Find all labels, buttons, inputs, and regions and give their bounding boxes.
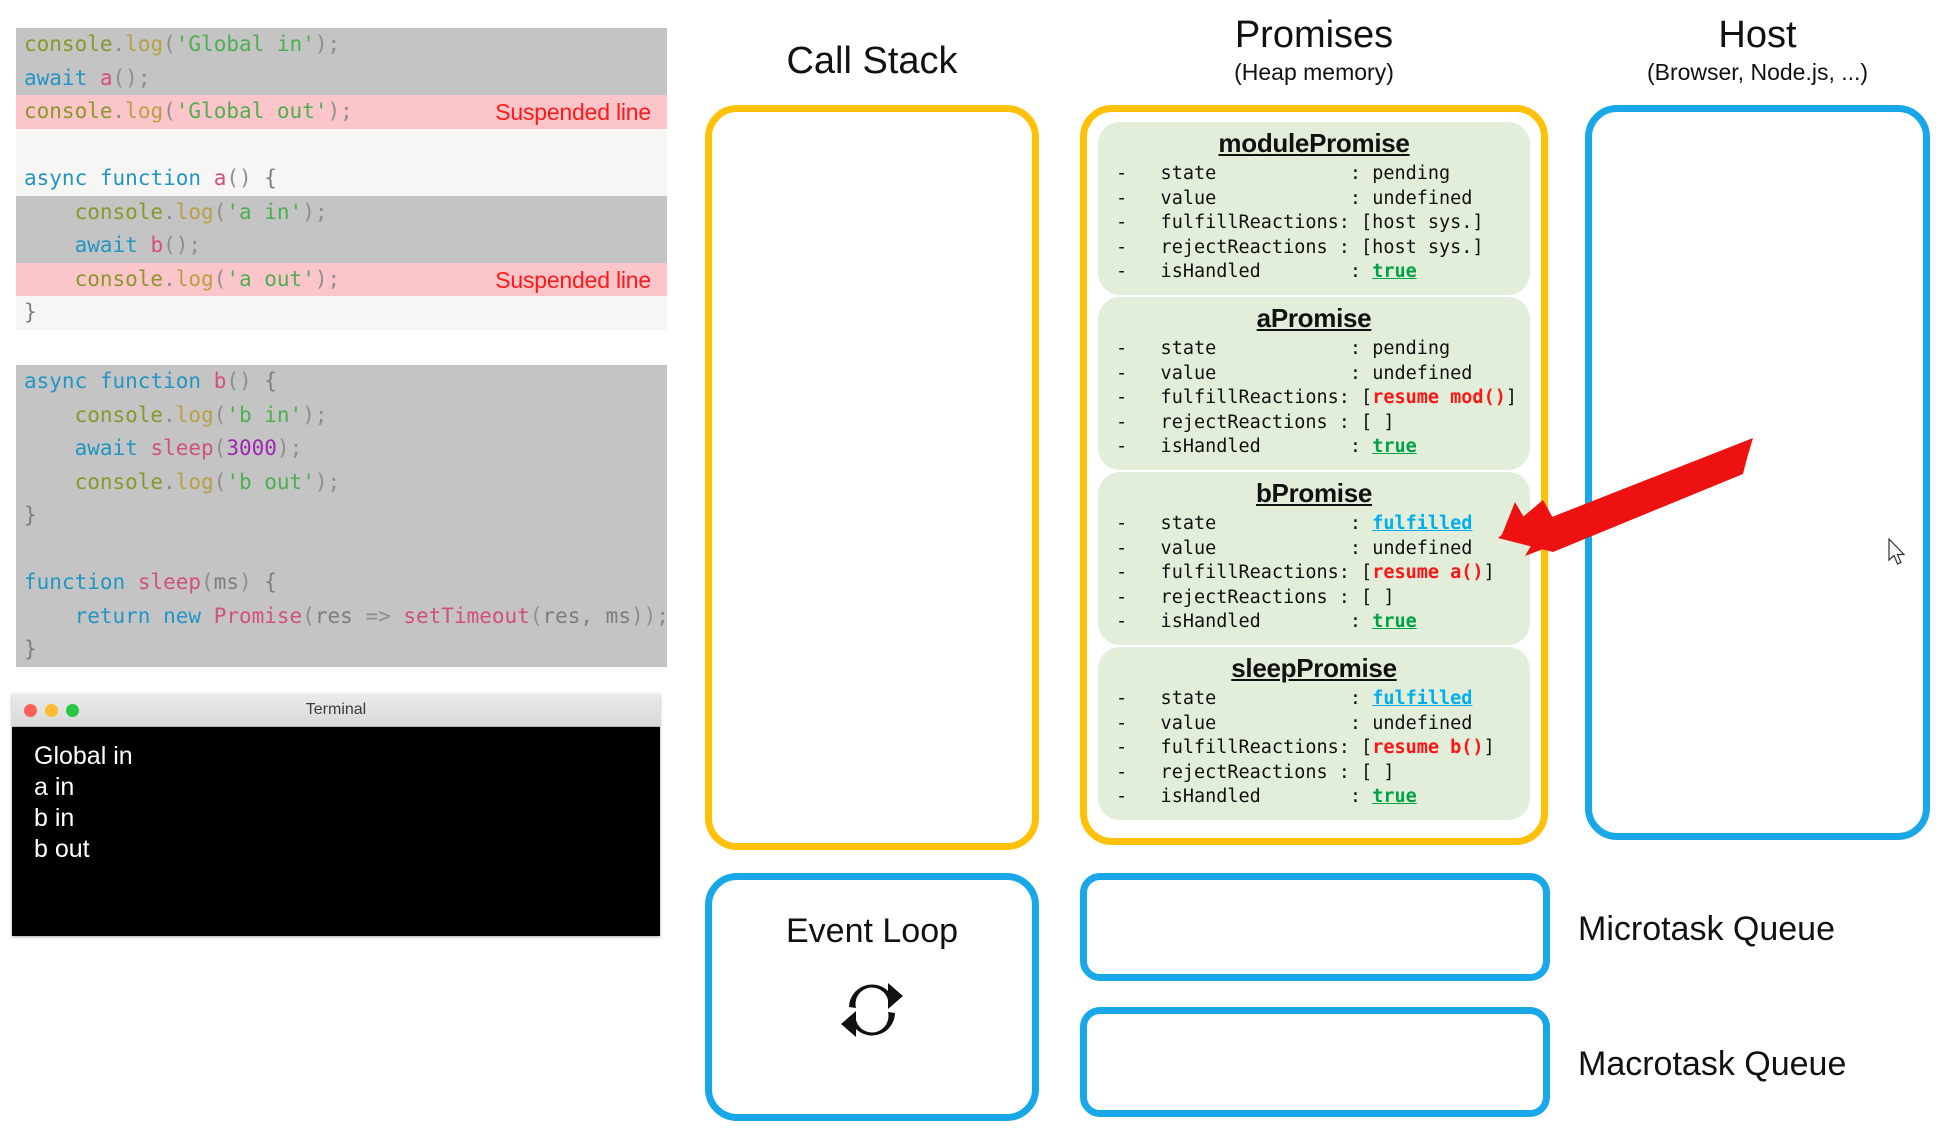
code-token: ; — [315, 200, 328, 224]
code-token: . — [163, 267, 176, 291]
code-line: await sleep(3000); — [16, 432, 667, 466]
promise-field-value: undefined — [1372, 538, 1472, 559]
promise-field-row: - rejectReactions : [host sys.] — [1116, 236, 1530, 261]
promise-field-value: fulfilled — [1372, 513, 1472, 534]
code-line — [16, 533, 667, 567]
code-token: ms — [214, 570, 239, 594]
code-token: ( — [214, 200, 227, 224]
promise-field-value: resume b() — [1372, 737, 1483, 758]
code-token: . — [163, 200, 176, 224]
code-token: ( — [530, 604, 543, 628]
code-token: . — [163, 470, 176, 494]
code-token: => — [353, 604, 404, 628]
code-token: ; — [328, 470, 341, 494]
promise-field-value: undefined — [1372, 713, 1472, 734]
promise-field-row: - state : pending — [1116, 162, 1530, 187]
event-loop-panel: Event Loop — [705, 873, 1039, 1121]
code-token: ) — [315, 32, 328, 56]
code-token: ( — [214, 470, 227, 494]
code-token — [24, 403, 75, 427]
code-token: 'b out' — [226, 470, 315, 494]
code-line: console.log('b out'); — [16, 466, 667, 500]
code-token: ; — [315, 403, 328, 427]
promise-field-key: - isHandled : — [1116, 261, 1372, 282]
code-token: Promise — [214, 604, 303, 628]
code-token: } — [24, 637, 37, 661]
code-token: log — [176, 200, 214, 224]
bracket-close: ] — [1506, 387, 1517, 408]
code-token: ) — [239, 570, 252, 594]
code-token: . — [113, 32, 126, 56]
code-token: ) — [315, 470, 328, 494]
promise-field-key: - rejectReactions : — [1116, 587, 1361, 608]
code-token: log — [176, 403, 214, 427]
suspended-line-label: Suspended line — [495, 96, 651, 130]
promise-field-row: - state : fulfilled — [1116, 512, 1530, 537]
promise-field-row: - value : undefined — [1116, 537, 1530, 562]
code-line: function sleep(ms) { — [16, 566, 667, 600]
promise-field-key: - fulfillReactions: — [1116, 387, 1361, 408]
code-token: 'b in' — [226, 403, 302, 427]
promises-heading: Promises (Heap memory) — [1080, 12, 1548, 86]
code-token: . — [113, 99, 126, 123]
bracket-open: [ — [1361, 562, 1372, 583]
code-token: new — [163, 604, 201, 628]
code-token: await — [24, 66, 87, 90]
promise-field-value: [ ] — [1361, 762, 1394, 783]
code-token: console — [75, 267, 164, 291]
promise-field-key: - value : — [1116, 363, 1372, 384]
terminal-output: Global ina inb inb out — [12, 727, 660, 865]
promise-card-fields: - state : pending- value : undefined- fu… — [1098, 162, 1530, 285]
code-token: )) — [631, 604, 656, 628]
code-token: ( — [302, 604, 315, 628]
code-token: ) — [315, 267, 328, 291]
code-token: async — [24, 369, 87, 393]
code-token — [24, 436, 75, 460]
call-stack-title: Call Stack — [705, 38, 1039, 84]
code-token: function — [100, 369, 201, 393]
promise-field-value: undefined — [1372, 188, 1472, 209]
code-token — [87, 369, 100, 393]
code-token: ; — [328, 32, 341, 56]
promise-field-key: - rejectReactions : — [1116, 237, 1361, 258]
code-token: function — [24, 570, 125, 594]
microtask-queue-label: Microtask Queue — [1578, 910, 1835, 949]
code-line: async function a() { — [16, 162, 667, 196]
code-token: res, ms — [542, 604, 631, 628]
code-token: return — [75, 604, 151, 628]
code-token: log — [176, 267, 214, 291]
promise-field-key: - value : — [1116, 713, 1372, 734]
code-token — [201, 166, 214, 190]
promise-field-value: true — [1372, 261, 1417, 282]
promise-field-key: - isHandled : — [1116, 786, 1372, 807]
host-heading: Host (Browser, Node.js, ...) — [1585, 12, 1930, 86]
promise-field-key: - value : — [1116, 188, 1372, 209]
promise-field-key: - state : — [1116, 688, 1372, 709]
code-token: console — [75, 470, 164, 494]
code-token — [201, 369, 214, 393]
code-token — [24, 233, 75, 257]
code-token: ) — [277, 436, 290, 460]
suspended-line-label: Suspended line — [495, 264, 651, 298]
promises-subtitle: (Heap memory) — [1080, 58, 1548, 86]
promise-field-value: [host sys.] — [1361, 237, 1484, 258]
promise-field-value: pending — [1372, 163, 1450, 184]
terminal-output-line: b out — [34, 834, 660, 865]
code-line: console.log('a in'); — [16, 196, 667, 230]
code-token: () — [226, 166, 251, 190]
code-token: ; — [328, 267, 341, 291]
promise-card-fields: - state : pending- value : undefined- fu… — [1098, 337, 1530, 460]
code-token: . — [163, 403, 176, 427]
code-line: console.log('b in'); — [16, 399, 667, 433]
code-token: log — [125, 32, 163, 56]
code-token — [138, 436, 151, 460]
code-token: b — [150, 233, 163, 257]
code-token: await — [75, 436, 138, 460]
code-token: ( — [163, 99, 176, 123]
promise-field-row: - value : undefined — [1116, 187, 1530, 212]
code-token: b — [214, 369, 227, 393]
terminal-output-line: a in — [34, 772, 660, 803]
promise-field-row: - state : fulfilled — [1116, 687, 1530, 712]
promise-field-value: resume mod() — [1372, 387, 1506, 408]
code-token: log — [125, 99, 163, 123]
code-token: ; — [340, 99, 353, 123]
promise-field-key: - rejectReactions : — [1116, 762, 1361, 783]
promise-field-value: undefined — [1372, 363, 1472, 384]
code-token: () — [113, 66, 138, 90]
promise-field-row: - isHandled : true — [1116, 435, 1530, 460]
code-line: await a(); — [16, 62, 667, 96]
bracket-open: [ — [1361, 737, 1372, 758]
promise-field-value: true — [1372, 611, 1417, 632]
bracket-close: ] — [1484, 562, 1495, 583]
promise-field-value: [ ] — [1361, 412, 1394, 433]
code-token: console — [24, 99, 113, 123]
promise-card-title: sleepPromise — [1098, 653, 1530, 687]
promise-field-value: resume a() — [1372, 562, 1483, 583]
promise-field-key: - state : — [1116, 338, 1372, 359]
terminal-window: Terminal Global ina inb inb out — [12, 694, 660, 936]
terminal-output-line: b in — [34, 803, 660, 834]
terminal-titlebar: Terminal — [12, 694, 660, 727]
code-line: await b(); — [16, 229, 667, 263]
code-token: 'a in' — [226, 200, 302, 224]
promise-field-row: - state : pending — [1116, 337, 1530, 362]
promise-card-title: modulePromise — [1098, 128, 1530, 162]
promise-field-value: fulfilled — [1372, 688, 1472, 709]
call-stack-panel — [705, 105, 1039, 850]
code-line: console.log('a out');Suspended line — [16, 263, 667, 297]
code-token: ) — [302, 403, 315, 427]
code-token: } — [24, 300, 37, 324]
promise-card: bPromise - state : fulfilled- value : un… — [1098, 472, 1530, 645]
promise-field-value: [ ] — [1361, 587, 1394, 608]
bracket-open: [ — [1361, 387, 1372, 408]
code-token: sleep — [150, 436, 213, 460]
code-token: 3000 — [226, 436, 277, 460]
code-token: ) — [327, 99, 340, 123]
promise-field-key: - fulfillReactions: — [1116, 212, 1361, 233]
code-token — [87, 66, 100, 90]
promise-field-key: - value : — [1116, 538, 1372, 559]
promise-field-value: [host sys.] — [1361, 212, 1484, 233]
code-token: async — [24, 166, 87, 190]
promise-card-title: aPromise — [1098, 303, 1530, 337]
promise-field-row: - isHandled : true — [1116, 785, 1530, 810]
code-token: () — [163, 233, 188, 257]
code-token: await — [75, 233, 138, 257]
code-token — [150, 604, 163, 628]
refresh-loop-icon — [835, 973, 909, 1047]
macrotask-queue-label: Macrotask Queue — [1578, 1045, 1846, 1084]
code-token: function — [100, 166, 201, 190]
host-panel — [1585, 105, 1930, 840]
code-token: { — [252, 166, 277, 190]
host-title: Host — [1585, 12, 1930, 58]
promise-field-key: - fulfillReactions: — [1116, 737, 1361, 758]
promise-field-key: - isHandled : — [1116, 611, 1372, 632]
code-token — [201, 604, 214, 628]
promise-field-row: - value : undefined — [1116, 362, 1530, 387]
code-line: return new Promise(res => setTimeout(res… — [16, 600, 667, 634]
code-token — [87, 166, 100, 190]
code-token: log — [176, 470, 214, 494]
code-line: } — [16, 296, 667, 330]
code-token: { — [252, 570, 277, 594]
code-token: 'Global out' — [176, 99, 328, 123]
code-token: a — [214, 166, 227, 190]
code-token: ; — [656, 604, 669, 628]
promise-card: aPromise - state : pending- value : unde… — [1098, 297, 1530, 470]
terminal-output-line: Global in — [34, 741, 660, 772]
promises-title: Promises — [1080, 12, 1548, 58]
code-editor-block-bottom: async function b() { console.log('b in')… — [16, 365, 667, 667]
code-line: console.log('Global in'); — [16, 28, 667, 62]
promise-field-value: pending — [1372, 338, 1450, 359]
microtask-queue-panel — [1080, 873, 1550, 981]
promise-field-key: - state : — [1116, 163, 1372, 184]
code-token: ; — [188, 233, 201, 257]
promise-field-key: - rejectReactions : — [1116, 412, 1361, 433]
promise-field-row: - rejectReactions : [ ] — [1116, 586, 1530, 611]
promise-card-fields: - state : fulfilled- value : undefined- … — [1098, 687, 1530, 810]
event-loop-label: Event Loop — [786, 912, 958, 951]
code-token: () — [226, 369, 251, 393]
promise-field-row: - fulfillReactions: [resume mod()] — [1116, 386, 1530, 411]
bracket-close: ] — [1484, 737, 1495, 758]
code-token — [24, 470, 75, 494]
code-token — [138, 233, 151, 257]
mouse-cursor-icon — [1888, 538, 1910, 568]
code-token: ( — [214, 267, 227, 291]
code-token: ( — [201, 570, 214, 594]
code-token — [24, 267, 75, 291]
code-token: } — [24, 503, 37, 527]
promise-card-title: bPromise — [1098, 478, 1530, 512]
code-token: console — [75, 200, 164, 224]
code-line — [16, 129, 667, 163]
code-token — [24, 604, 75, 628]
promise-field-value: true — [1372, 436, 1417, 457]
promise-field-row: - fulfillReactions: [host sys.] — [1116, 211, 1530, 236]
promise-field-key: - state : — [1116, 513, 1372, 534]
call-stack-heading: Call Stack — [705, 38, 1039, 84]
promise-card: modulePromise - state : pending- value :… — [1098, 122, 1530, 295]
promise-card: sleepPromise - state : fulfilled- value … — [1098, 647, 1530, 820]
code-token: 'Global in' — [176, 32, 315, 56]
code-token — [125, 570, 138, 594]
code-token: sleep — [138, 570, 201, 594]
code-line: console.log('Global out');Suspended line — [16, 95, 667, 129]
code-token: a — [100, 66, 113, 90]
code-token: ( — [163, 32, 176, 56]
host-subtitle: (Browser, Node.js, ...) — [1585, 58, 1930, 86]
code-token: console — [75, 403, 164, 427]
code-token: setTimeout — [403, 604, 529, 628]
code-line: } — [16, 633, 667, 667]
promise-field-key: - fulfillReactions: — [1116, 562, 1361, 583]
promise-field-row: - fulfillReactions: [resume a()] — [1116, 561, 1530, 586]
promise-field-row: - rejectReactions : [ ] — [1116, 411, 1530, 436]
promise-card-fields: - state : fulfilled- value : undefined- … — [1098, 512, 1530, 635]
code-token: 'a out' — [226, 267, 315, 291]
code-token: ; — [290, 436, 303, 460]
promise-field-row: - value : undefined — [1116, 712, 1530, 737]
promise-field-row: - fulfillReactions: [resume b()] — [1116, 736, 1530, 761]
terminal-title: Terminal — [12, 701, 660, 719]
promise-field-row: - isHandled : true — [1116, 260, 1530, 285]
code-line: async function b() { — [16, 365, 667, 399]
code-token — [24, 200, 75, 224]
promise-field-key: - isHandled : — [1116, 436, 1372, 457]
code-editor-block-top: console.log('Global in');await a();conso… — [16, 28, 667, 330]
code-token: res — [315, 604, 353, 628]
promise-field-row: - rejectReactions : [ ] — [1116, 761, 1530, 786]
promise-field-row: - isHandled : true — [1116, 610, 1530, 635]
code-line: } — [16, 499, 667, 533]
macrotask-queue-panel — [1080, 1007, 1550, 1117]
code-token: { — [252, 369, 277, 393]
code-token: console — [24, 32, 113, 56]
code-token: ) — [302, 200, 315, 224]
promise-field-value: true — [1372, 786, 1417, 807]
code-token: ; — [138, 66, 151, 90]
code-token: ( — [214, 403, 227, 427]
code-token: ( — [214, 436, 227, 460]
